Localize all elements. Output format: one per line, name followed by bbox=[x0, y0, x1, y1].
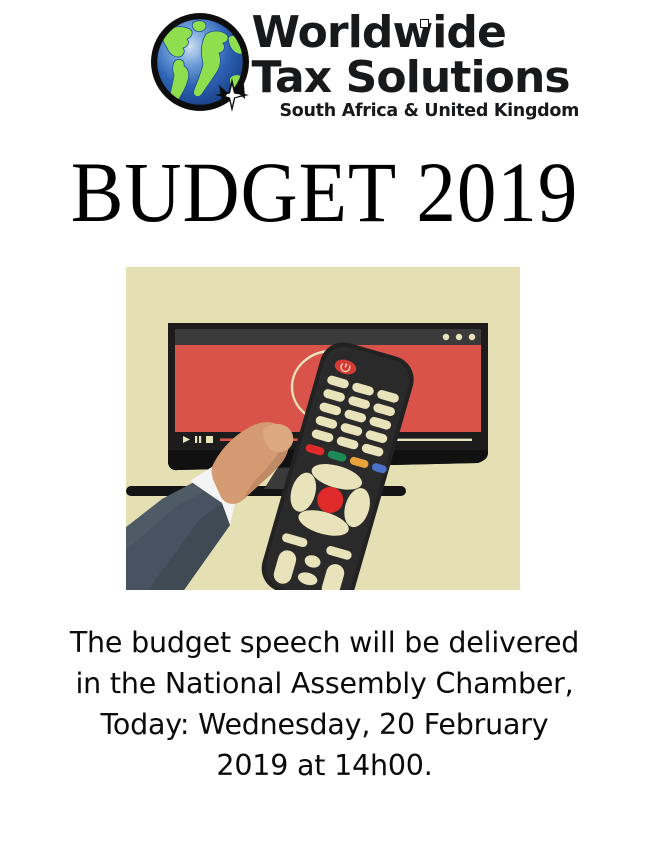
caption-line-3: Today: Wednesday, 20 February bbox=[14, 704, 635, 745]
stop-icon bbox=[206, 436, 213, 443]
caption-line-1: The budget speech will be delivered bbox=[14, 622, 635, 663]
logo-tagline: South Africa & United Kingdom bbox=[252, 100, 502, 122]
screen-titlebar bbox=[175, 329, 481, 345]
company-logo: Worldwide Tax Solutions South Africa & U… bbox=[0, 6, 649, 136]
logo-text-group: Worldwide Tax Solutions South Africa & U… bbox=[252, 6, 502, 122]
announcement-caption: The budget speech will be delivered in t… bbox=[14, 622, 635, 786]
tv-with-remote-illustration bbox=[126, 267, 520, 590]
caption-line-4: 2019 at 14h00. bbox=[14, 745, 635, 786]
caption-line-2: in the National Assembly Chamber, bbox=[14, 663, 635, 704]
logo-line-tax-solutions: Tax Solutions bbox=[252, 56, 502, 100]
selection-handle-artifact bbox=[420, 19, 429, 28]
logo-inner: Worldwide Tax Solutions South Africa & U… bbox=[150, 6, 500, 132]
titlebar-dot-3 bbox=[469, 334, 475, 340]
globe-icon bbox=[150, 10, 258, 128]
logo-line-worldwide: Worldwide bbox=[252, 6, 502, 56]
titlebar-dot-2 bbox=[456, 334, 462, 340]
page-title: BUDGET 2019 bbox=[26, 144, 623, 240]
titlebar-dot-1 bbox=[443, 334, 449, 340]
